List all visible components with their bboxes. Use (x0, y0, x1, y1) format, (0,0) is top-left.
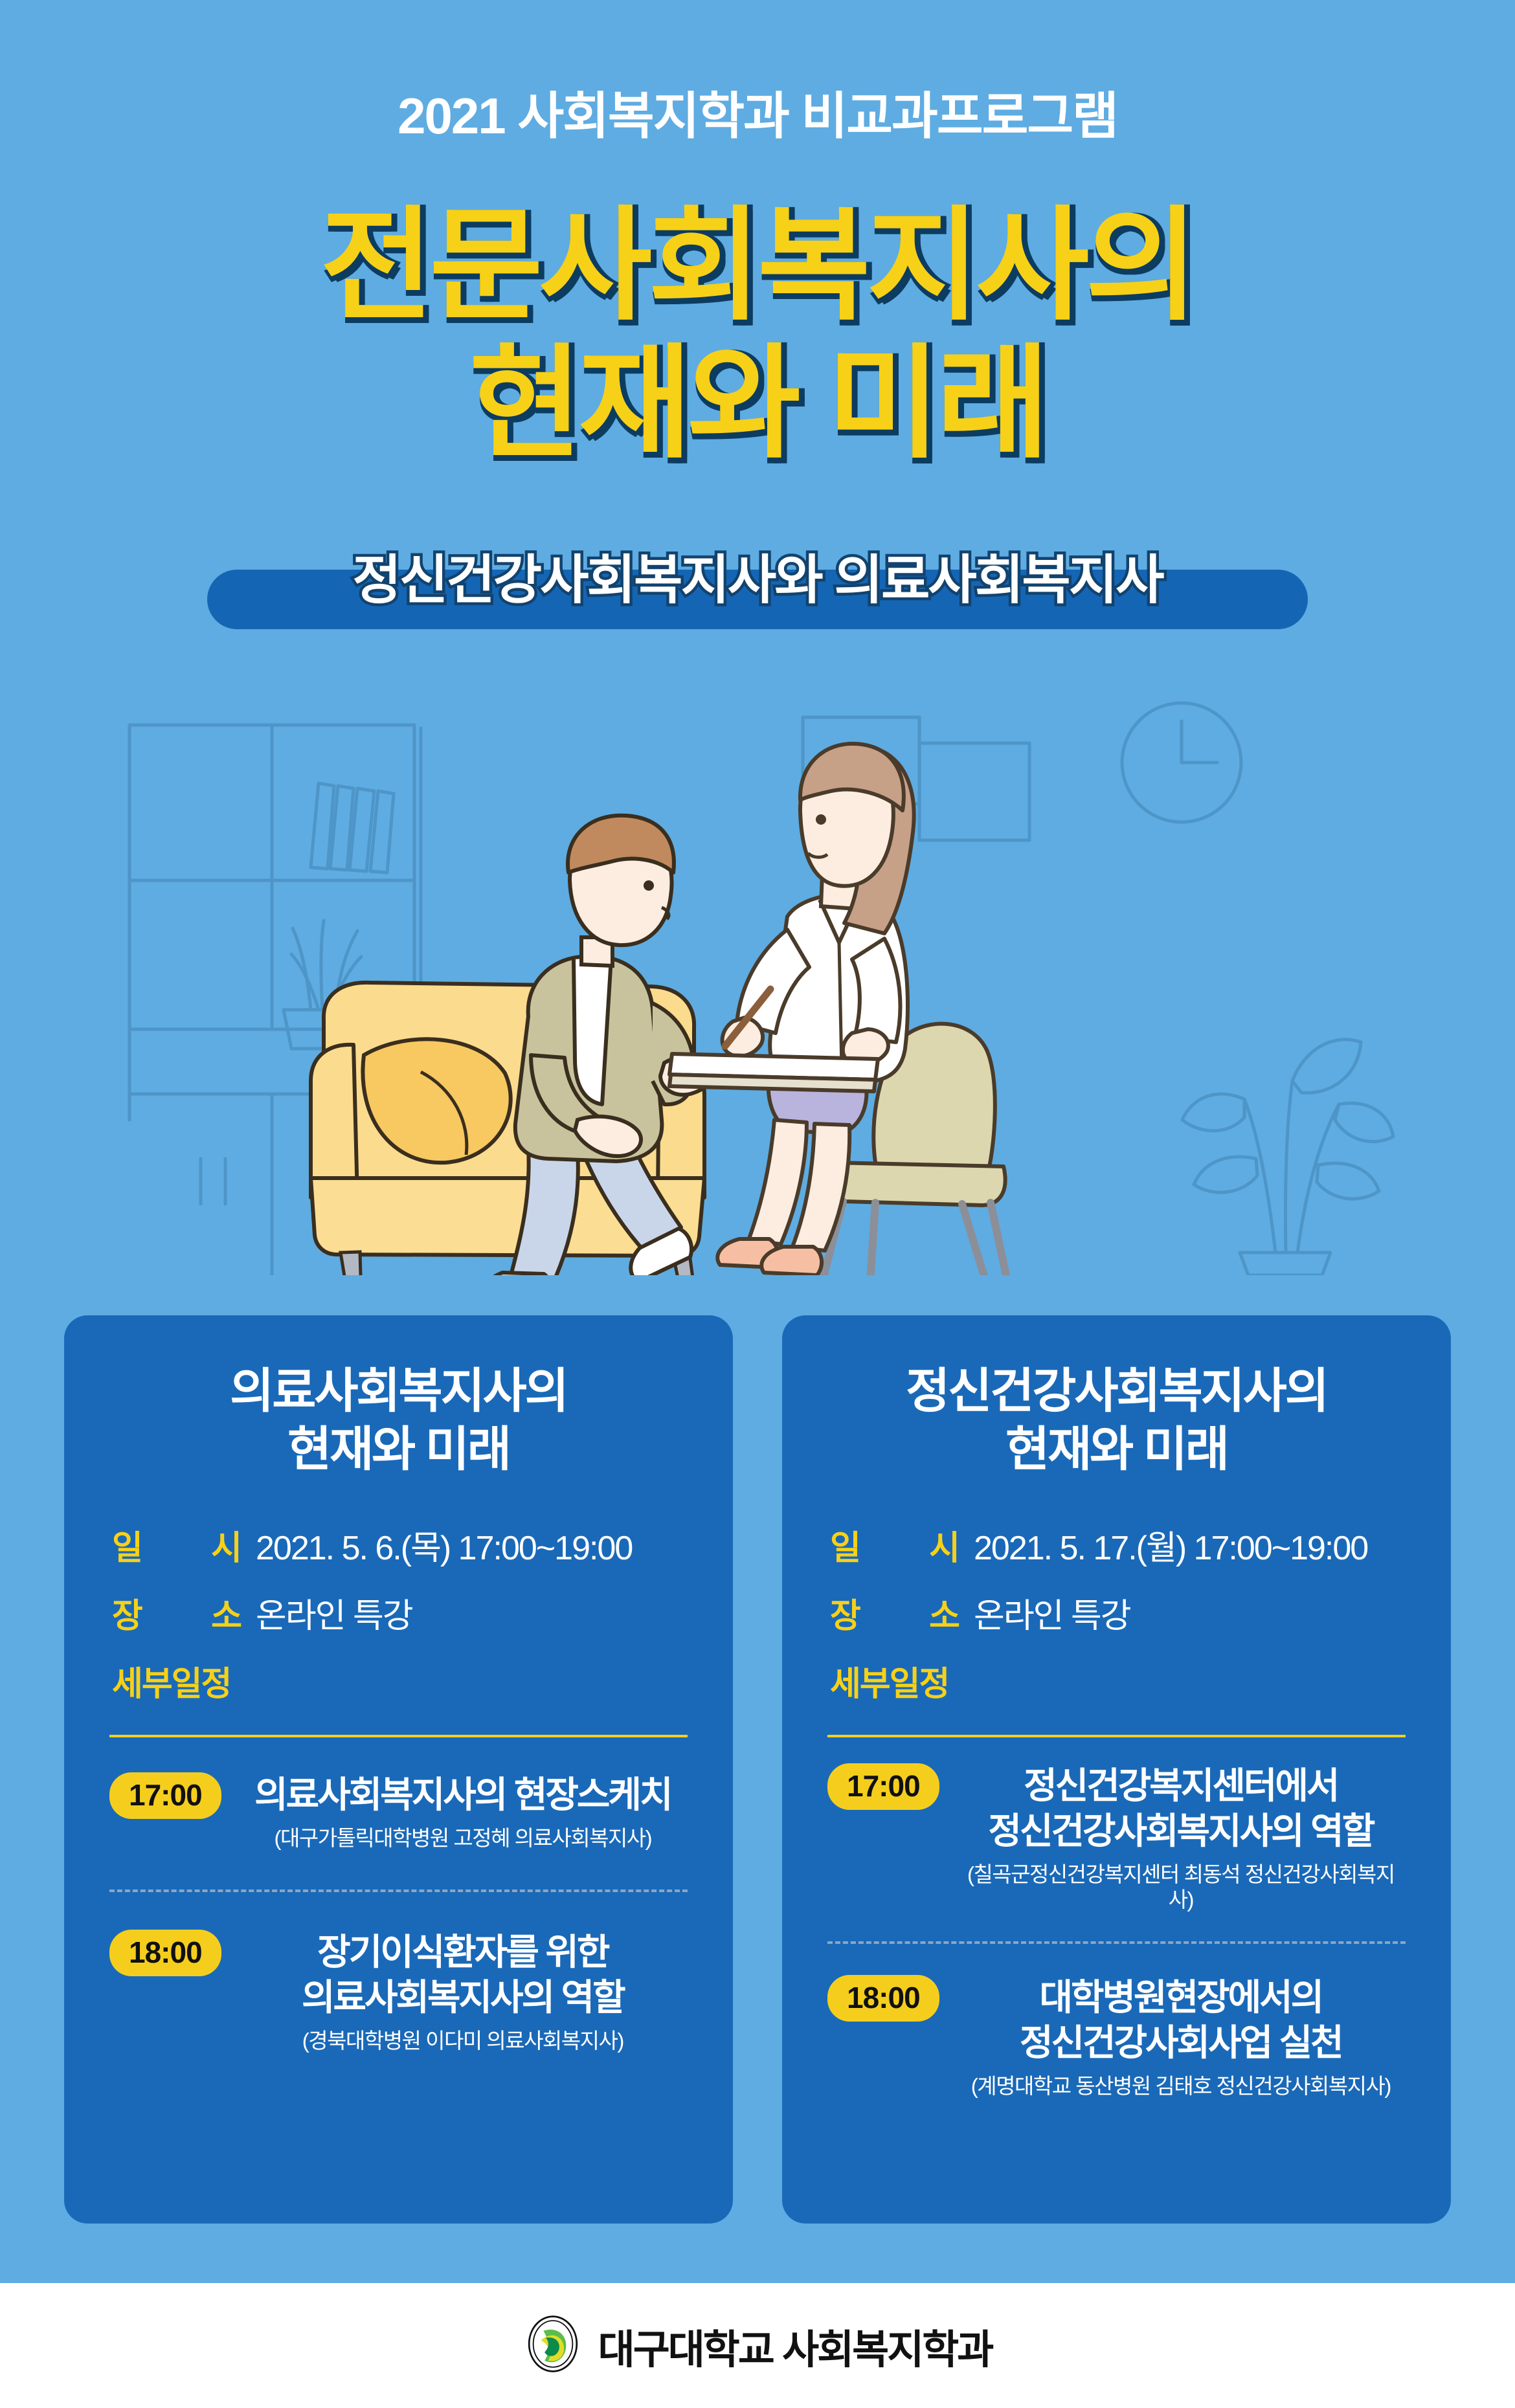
counseling-scene-illustration (117, 667, 1411, 1275)
meta-label-char-a: 장 (830, 1589, 860, 1637)
card-title-line-2: 현재와 미래 (825, 1420, 1408, 1478)
poster-footer: 대구대학교 사회복지학과 (0, 2283, 1515, 2408)
session-title: 장기이식환자를 위한 의료사회복지사의 역할 (238, 1930, 688, 2020)
card-medical-social-worker[interactable]: 의료사회복지사의 현재와 미래 일 시 2021. 5. 6.(목) 17:00… (64, 1315, 733, 2224)
session-title-line: 정신건강사회사업 실천 (956, 2020, 1406, 2066)
session-item: 17:00 의료사회복지사의 현장스케치 (대구가톨릭대학병원 고정혜 의료사회… (107, 1772, 690, 1851)
session-divider-dashed (109, 1890, 688, 1892)
session-body: 정신건강복지센터에서 정신건강사회복지사의 역할 (칠곡군정신건강복지센터 최동… (939, 1763, 1406, 1913)
meta-label-datetime: 일 시 (112, 1521, 241, 1569)
session-title: 대학병원현장에서의 정신건강사회사업 실천 (956, 1975, 1406, 2066)
schedule-divider-solid (109, 1735, 688, 1737)
schedule-divider-solid (827, 1735, 1406, 1737)
session-body: 의료사회복지사의 현장스케치 (대구가톨릭대학병원 고정혜 의료사회복지사) (221, 1772, 688, 1851)
poster-title-line-2: 현재와 미래 (0, 335, 1515, 473)
meta-label-char-b: 소 (929, 1589, 959, 1637)
card-title: 의료사회복지사의 현재와 미래 (107, 1362, 690, 1479)
card-mental-health-social-worker[interactable]: 정신건강사회복지사의 현재와 미래 일 시 2021. 5. 17.(월) 17… (782, 1315, 1451, 2224)
meta-row-venue: 장 소 온라인 특강 (825, 1589, 1408, 1637)
meta-row-venue: 장 소 온라인 특강 (107, 1589, 690, 1637)
poster-kicker: 2021 사회복지학과 비교과프로그램 (0, 91, 1515, 141)
session-title: 의료사회복지사의 현장스케치 (238, 1772, 688, 1818)
meta-row-datetime: 일 시 2021. 5. 6.(목) 17:00~19:00 (107, 1521, 690, 1569)
session-speaker: (대구가톨릭대학병원 고정혜 의료사회복지사) (238, 1825, 688, 1851)
meta-value-venue: 온라인 특강 (256, 1589, 412, 1637)
session-time-badge: 18:00 (827, 1975, 939, 2022)
poster: 2021 사회복지학과 비교과프로그램 전문사회복지사의 현재와 미래 정신건강… (0, 0, 1515, 2408)
session-speaker: (경북대학병원 이다미 의료사회복지사) (238, 2028, 688, 2054)
meta-label-char-a: 일 (112, 1521, 142, 1569)
session-item: 18:00 장기이식환자를 위한 의료사회복지사의 역할 (경북대학병원 이다미… (107, 1930, 690, 2054)
session-time-badge: 17:00 (827, 1763, 939, 1810)
meta-label-datetime: 일 시 (830, 1521, 959, 1569)
poster-title-line-1: 전문사회복지사의 (0, 197, 1515, 335)
session-item: 17:00 정신건강복지센터에서 정신건강사회복지사의 역할 (칠곡군정신건강복… (825, 1763, 1408, 1913)
session-title-line: 의료사회복지사의 현장스케치 (238, 1772, 688, 1818)
schedule-section-label: 세부일정 (107, 1656, 690, 1705)
session-divider-dashed (827, 1941, 1406, 1944)
session-cards: 의료사회복지사의 현재와 미래 일 시 2021. 5. 6.(목) 17:00… (0, 1315, 1515, 2224)
session-body: 대학병원현장에서의 정신건강사회사업 실천 (계명대학교 동산병원 김태호 정신… (939, 1975, 1406, 2099)
session-time-badge: 18:00 (109, 1930, 221, 1976)
meta-label-char-b: 소 (211, 1589, 241, 1637)
meta-label-venue: 장 소 (112, 1589, 241, 1637)
session-speaker: (칠곡군정신건강복지센터 최동석 정신건강사회복지사) (956, 1862, 1406, 1913)
meta-label-char-a: 일 (830, 1521, 860, 1569)
card-title-line-1: 정신건강사회복지사의 (825, 1362, 1408, 1420)
poster-title: 전문사회복지사의 현재와 미래 (0, 197, 1515, 473)
meta-value-datetime: 2021. 5. 6.(목) 17:00~19:00 (256, 1521, 632, 1569)
meta-value-datetime: 2021. 5. 17.(월) 17:00~19:00 (974, 1521, 1367, 1569)
session-title-line: 정신건강복지센터에서 (956, 1763, 1406, 1809)
meta-label-char-a: 장 (112, 1589, 142, 1637)
session-speaker: (계명대학교 동산병원 김태호 정신건강사회복지사) (956, 2073, 1406, 2099)
session-body: 장기이식환자를 위한 의료사회복지사의 역할 (경북대학병원 이다미 의료사회복… (221, 1930, 688, 2054)
session-title-line: 장기이식환자를 위한 (238, 1930, 688, 1975)
footer-organization: 대구대학교 사회복지학과 (598, 2317, 993, 2375)
session-title-line: 의료사회복지사의 역할 (238, 1975, 688, 2020)
card-title-line-2: 현재와 미래 (107, 1420, 690, 1478)
meta-label-char-b: 시 (211, 1521, 241, 1569)
meta-value-venue: 온라인 특강 (974, 1589, 1130, 1637)
session-time-badge: 17:00 (109, 1772, 221, 1819)
poster-subtitle: 정신건강사회복지사와 의료사회복지사 (0, 554, 1515, 607)
card-title-line-1: 의료사회복지사의 (107, 1362, 690, 1420)
session-item: 18:00 대학병원현장에서의 정신건강사회사업 실천 (계명대학교 동산병원 … (825, 1975, 1408, 2099)
meta-row-datetime: 일 시 2021. 5. 17.(월) 17:00~19:00 (825, 1521, 1408, 1569)
card-title: 정신건강사회복지사의 현재와 미래 (825, 1362, 1408, 1479)
session-title-line: 정신건강사회복지사의 역할 (956, 1809, 1406, 1854)
daegu-university-emblem-icon (523, 2314, 583, 2377)
schedule-section-label: 세부일정 (825, 1656, 1408, 1705)
session-title-line: 대학병원현장에서의 (956, 1975, 1406, 2020)
poster-blue-stage: 2021 사회복지학과 비교과프로그램 전문사회복지사의 현재와 미래 정신건강… (0, 0, 1515, 2283)
session-title: 정신건강복지센터에서 정신건강사회복지사의 역할 (956, 1763, 1406, 1854)
meta-label-venue: 장 소 (830, 1589, 959, 1637)
meta-label-char-b: 시 (929, 1521, 959, 1569)
